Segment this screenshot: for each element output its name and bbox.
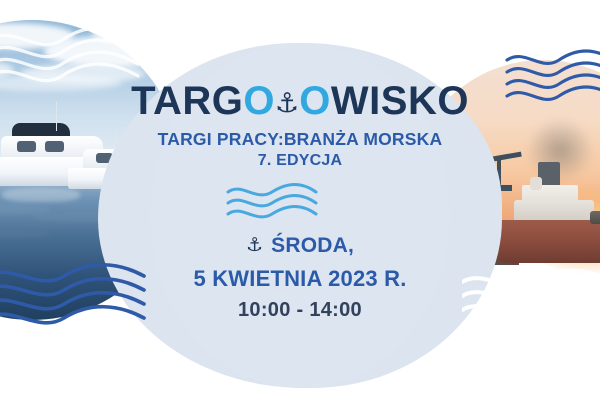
poster-subtitle: TARGI PRACY:BRANŻA MORSKA <box>0 129 600 150</box>
event-hours: 10:00 - 14:00 <box>0 299 600 322</box>
poster-text-block: TARGO⚓OWISKO TARGI PRACY:BRANŻA MORSKA 7… <box>0 0 600 400</box>
title-part-5: WISKO <box>331 79 469 123</box>
title-part-4: O <box>299 79 331 123</box>
event-day-label: ŚRODA, <box>271 234 354 257</box>
event-date: 5 KWIETNIA 2023 R. <box>0 266 600 292</box>
anchor-icon: ⚓ <box>275 88 299 118</box>
page-title: TARGO⚓OWISKO <box>0 81 600 121</box>
title-part-2: O <box>243 79 275 123</box>
event-day-line: ⚓ŚRODA, <box>0 234 600 258</box>
title-part-1: TARG <box>131 79 243 123</box>
poster-edition: 7. EDYCJA <box>0 152 600 170</box>
event-poster: TARGO⚓OWISKO TARGI PRACY:BRANŻA MORSKA 7… <box>0 0 600 400</box>
anchor-icon-date: ⚓ <box>246 235 263 256</box>
